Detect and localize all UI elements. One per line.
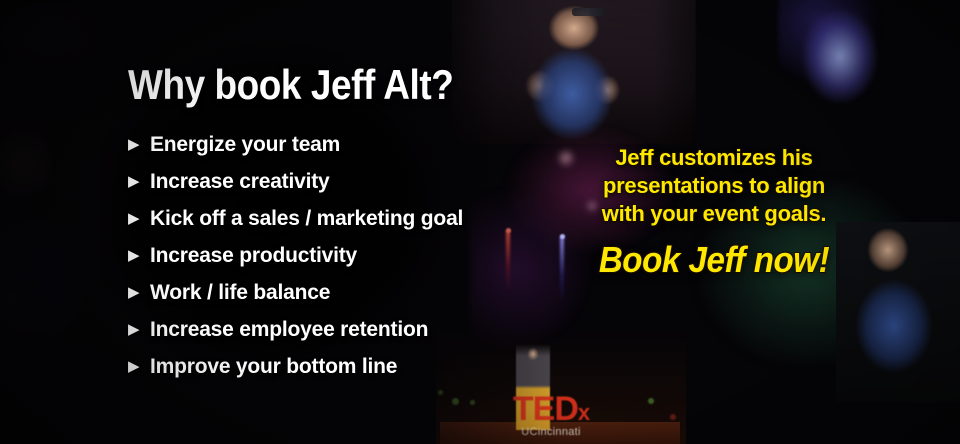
banner-content: Why book Jeff Alt? ▶ Energize your team …: [0, 0, 960, 444]
list-item-label: Energize your team: [150, 133, 340, 157]
list-item: ▶ Increase creativity: [128, 163, 463, 200]
triangle-bullet-icon: ▶: [128, 322, 150, 337]
book-jeff-now-cta[interactable]: Book Jeff now!: [578, 240, 850, 280]
page-title: Why book Jeff Alt?: [128, 62, 453, 108]
speaker-promo-banner: TEDx UCincinnati Why book Jeff Alt? ▶ En…: [0, 0, 960, 444]
triangle-bullet-icon: ▶: [128, 285, 150, 300]
list-item: ▶ Increase employee retention: [128, 311, 463, 348]
list-item: ▶ Energize your team: [128, 126, 463, 163]
triangle-bullet-icon: ▶: [128, 137, 150, 152]
triangle-bullet-icon: ▶: [128, 248, 150, 263]
triangle-bullet-icon: ▶: [128, 359, 150, 374]
list-item-label: Kick off a sales / marketing goal: [150, 207, 463, 231]
promo-line: with your event goals.: [566, 200, 862, 228]
promo-line: presentations to align: [566, 172, 862, 200]
benefits-list: ▶ Energize your team ▶ Increase creativi…: [128, 126, 463, 385]
list-item-label: Increase productivity: [150, 244, 357, 268]
triangle-bullet-icon: ▶: [128, 211, 150, 226]
list-item-label: Improve your bottom line: [150, 355, 397, 379]
promo-line: Jeff customizes his: [566, 144, 862, 172]
list-item: ▶ Increase productivity: [128, 237, 463, 274]
triangle-bullet-icon: ▶: [128, 174, 150, 189]
list-item: ▶ Improve your bottom line: [128, 348, 463, 385]
promo-text-block: Jeff customizes his presentations to ali…: [566, 144, 862, 228]
list-item-label: Work / life balance: [150, 281, 330, 305]
list-item: ▶ Kick off a sales / marketing goal: [128, 200, 463, 237]
list-item-label: Increase creativity: [150, 170, 330, 194]
list-item: ▶ Work / life balance: [128, 274, 463, 311]
list-item-label: Increase employee retention: [150, 318, 428, 342]
